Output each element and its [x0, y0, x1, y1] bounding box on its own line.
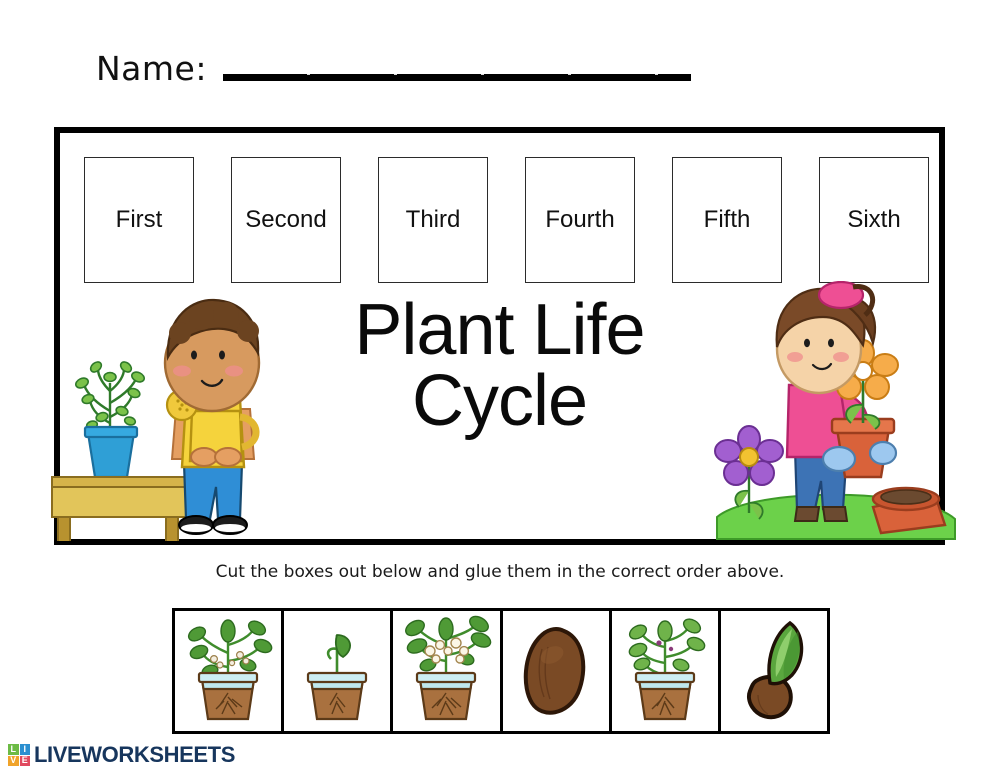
- worksheet-page: Name: First Second Third Fourth Fifth Si…: [0, 0, 1000, 772]
- ordinal-label: Third: [406, 206, 461, 234]
- ordinal-box-first[interactable]: First: [84, 157, 194, 283]
- germinating-seed-icon: [726, 615, 822, 727]
- ordinal-label: Second: [245, 206, 326, 234]
- liveworksheets-logo[interactable]: L I V E LIVEWORKSHEETS: [8, 742, 235, 768]
- ordinal-box-second[interactable]: Second: [231, 157, 341, 283]
- bean-seed-icon: [508, 615, 604, 727]
- logo-letter-grid: L I V E: [8, 744, 30, 766]
- plant-with-white-flowers-icon: [398, 615, 494, 727]
- instruction-text: Cut the boxes out below and glue them in…: [0, 562, 1000, 582]
- logo-letter-e: E: [20, 756, 31, 767]
- ordinal-box-sixth[interactable]: Sixth: [819, 157, 929, 283]
- ordinal-label: Fifth: [704, 206, 751, 234]
- name-label: Name:: [96, 52, 207, 85]
- cut-out-cell-germinating-seed[interactable]: [721, 611, 827, 731]
- cut-out-cell-flowering-plant-with-buds[interactable]: [175, 611, 284, 731]
- ordinal-label: Fourth: [545, 206, 614, 234]
- ordinal-boxes-row: First Second Third Fourth Fifth Sixth: [84, 157, 929, 283]
- logo-letter-l: L: [8, 744, 19, 755]
- cut-out-strip: [172, 608, 830, 734]
- girl-figure: [777, 282, 898, 521]
- main-frame: First Second Third Fourth Fifth Sixth Pl…: [54, 127, 945, 545]
- cut-out-cell-leafy-young-plant[interactable]: [612, 611, 721, 731]
- cut-out-cell-plant-with-white-flowers[interactable]: [393, 611, 502, 731]
- logo-letter-v: V: [8, 756, 19, 767]
- ordinal-label: Sixth: [847, 206, 900, 234]
- logo-wordmark: LIVEWORKSHEETS: [34, 742, 235, 768]
- leafy-young-plant-icon: [617, 615, 713, 727]
- name-row: Name:: [96, 52, 691, 85]
- ordinal-box-fourth[interactable]: Fourth: [525, 157, 635, 283]
- ordinal-box-fifth[interactable]: Fifth: [672, 157, 782, 283]
- ordinal-label: First: [116, 206, 163, 234]
- cut-out-cell-bean-seed[interactable]: [503, 611, 612, 731]
- girl-planting-flower-illustration: [713, 281, 963, 543]
- name-input-line[interactable]: [223, 74, 691, 81]
- boy-watering-plant-illustration: [44, 291, 304, 541]
- ordinal-box-third[interactable]: Third: [378, 157, 488, 283]
- flowering-plant-with-buds-icon: [180, 615, 276, 727]
- cut-out-cell-seedling-sprout[interactable]: [284, 611, 393, 731]
- logo-letter-i: I: [20, 744, 31, 755]
- seedling-sprout-icon: [289, 615, 385, 727]
